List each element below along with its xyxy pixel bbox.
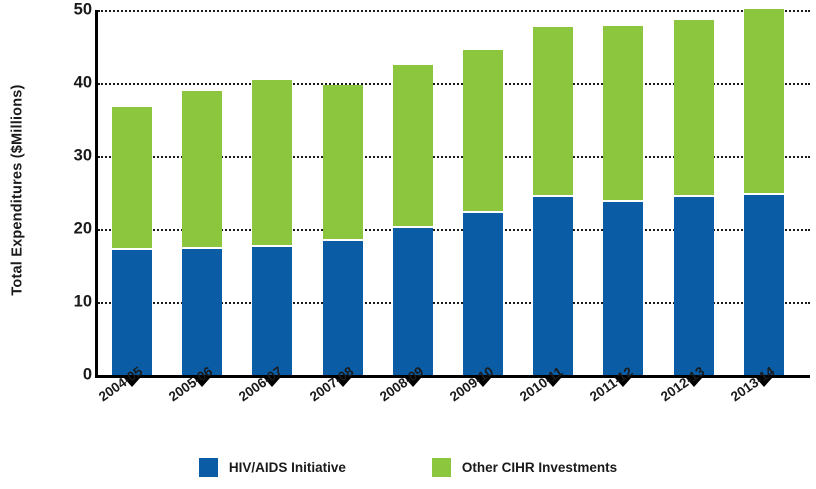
bar-segment[interactable]	[603, 26, 643, 200]
legend-swatch	[199, 458, 218, 477]
chart-legend: HIV/AIDS InitiativeOther CIHR Investment…	[0, 458, 816, 477]
y-tick-label: 10	[48, 293, 92, 312]
bar-segment[interactable]	[463, 50, 503, 211]
y-tick-label: 50	[48, 1, 92, 20]
y-axis-title: Total Expenditures ($Millions)	[0, 0, 36, 380]
legend-swatch	[432, 458, 451, 477]
bar-segment[interactable]	[252, 247, 292, 375]
legend-item[interactable]: HIV/AIDS Initiative	[199, 458, 346, 477]
bar-group[interactable]	[393, 10, 433, 375]
bar-group[interactable]	[674, 10, 714, 375]
legend-label: HIV/AIDS Initiative	[229, 460, 346, 475]
bar-segment[interactable]	[744, 9, 784, 192]
y-tick-label: 20	[48, 220, 92, 239]
bar-segment[interactable]	[182, 91, 222, 247]
y-axis-title-text: Total Expenditures ($Millions)	[10, 84, 26, 295]
bar-segment[interactable]	[323, 85, 363, 240]
y-tick-label: 40	[48, 74, 92, 93]
bar-group[interactable]	[252, 10, 292, 375]
y-axis-line	[95, 10, 98, 376]
bar-group[interactable]	[744, 10, 784, 375]
y-tick-label: 0	[48, 366, 92, 385]
y-axis-tick-labels: 01020304050	[48, 0, 92, 380]
bar-segment[interactable]	[112, 107, 152, 248]
bar-group[interactable]	[112, 10, 152, 375]
bar-segment[interactable]	[252, 80, 292, 244]
plot-area	[98, 10, 810, 375]
bar-segment[interactable]	[182, 249, 222, 375]
y-tick-label: 30	[48, 147, 92, 166]
stacked-bar-chart: Total Expenditures ($Millions) 010203040…	[0, 0, 816, 489]
bar-segment[interactable]	[603, 202, 643, 375]
bar-segment[interactable]	[533, 27, 573, 195]
bar-segment[interactable]	[674, 20, 714, 195]
bar-segment[interactable]	[112, 250, 152, 375]
bar-group[interactable]	[182, 10, 222, 375]
bar-group[interactable]	[323, 10, 363, 375]
bar-segment[interactable]	[393, 228, 433, 375]
bar-group[interactable]	[533, 10, 573, 375]
bar-segment[interactable]	[674, 197, 714, 375]
bar-segment[interactable]	[393, 65, 433, 226]
bar-segment[interactable]	[463, 213, 503, 375]
legend-item[interactable]: Other CIHR Investments	[432, 458, 617, 477]
legend-label: Other CIHR Investments	[462, 460, 617, 475]
bar-segment[interactable]	[323, 241, 363, 375]
bar-group[interactable]	[603, 10, 643, 375]
bar-segment[interactable]	[744, 195, 784, 375]
bar-group[interactable]	[463, 10, 503, 375]
bar-segment[interactable]	[533, 197, 573, 375]
